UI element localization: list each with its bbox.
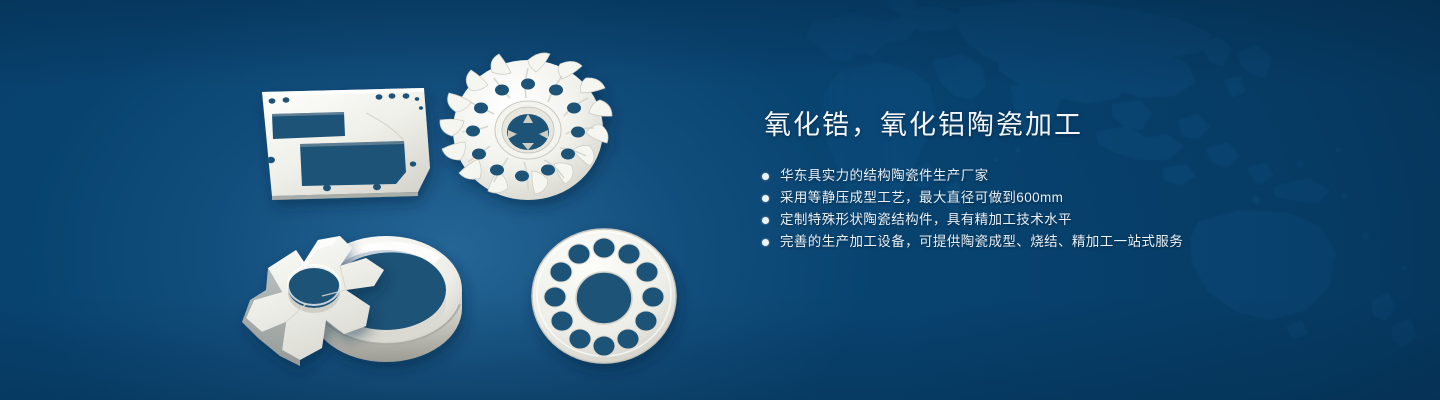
rectangular-machined-plate [262,88,430,200]
feature-text: 华东具实力的结构陶瓷件生产厂家 [780,165,989,187]
feature-text: 定制特殊形状陶瓷结构件，具有精加工技术水平 [780,209,1072,231]
banner-copy: 氧化锆，氧化铝陶瓷加工 华东具实力的结构陶瓷件生产厂家 采用等静压成型工艺，最大… [762,108,1362,253]
feature-list: 华东具实力的结构陶瓷件生产厂家 采用等静压成型工艺，最大直径可做到600mm 定… [762,165,1362,253]
list-item: 完善的生产加工设备，可提供陶瓷成型、烧结、精加工一站式服务 [762,231,1362,253]
page-title: 氧化锆，氧化铝陶瓷加工 [764,108,1362,142]
perforated-ring-plate [532,229,676,363]
ceramic-parts-photo [0,0,720,400]
bullet-dot-icon [762,173,769,180]
list-item: 定制特殊形状陶瓷结构件，具有精加工技术水平 [762,209,1362,231]
list-item: 华东具实力的结构陶瓷件生产厂家 [762,165,1362,187]
hero-banner: 氧化锆，氧化铝陶瓷加工 华东具实力的结构陶瓷件生产厂家 采用等静压成型工艺，最大… [0,0,1440,400]
feature-text: 采用等静压成型工艺，最大直径可做到600mm [780,187,1063,209]
bullet-dot-icon [762,195,769,202]
list-item: 采用等静压成型工艺，最大直径可做到600mm [762,187,1362,209]
feature-text: 完善的生产加工设备，可提供陶瓷成型、烧结、精加工一站式服务 [780,231,1183,253]
bullet-dot-icon [762,217,769,224]
bullet-dot-icon [762,239,769,246]
vaned-impeller-disc [440,53,612,200]
